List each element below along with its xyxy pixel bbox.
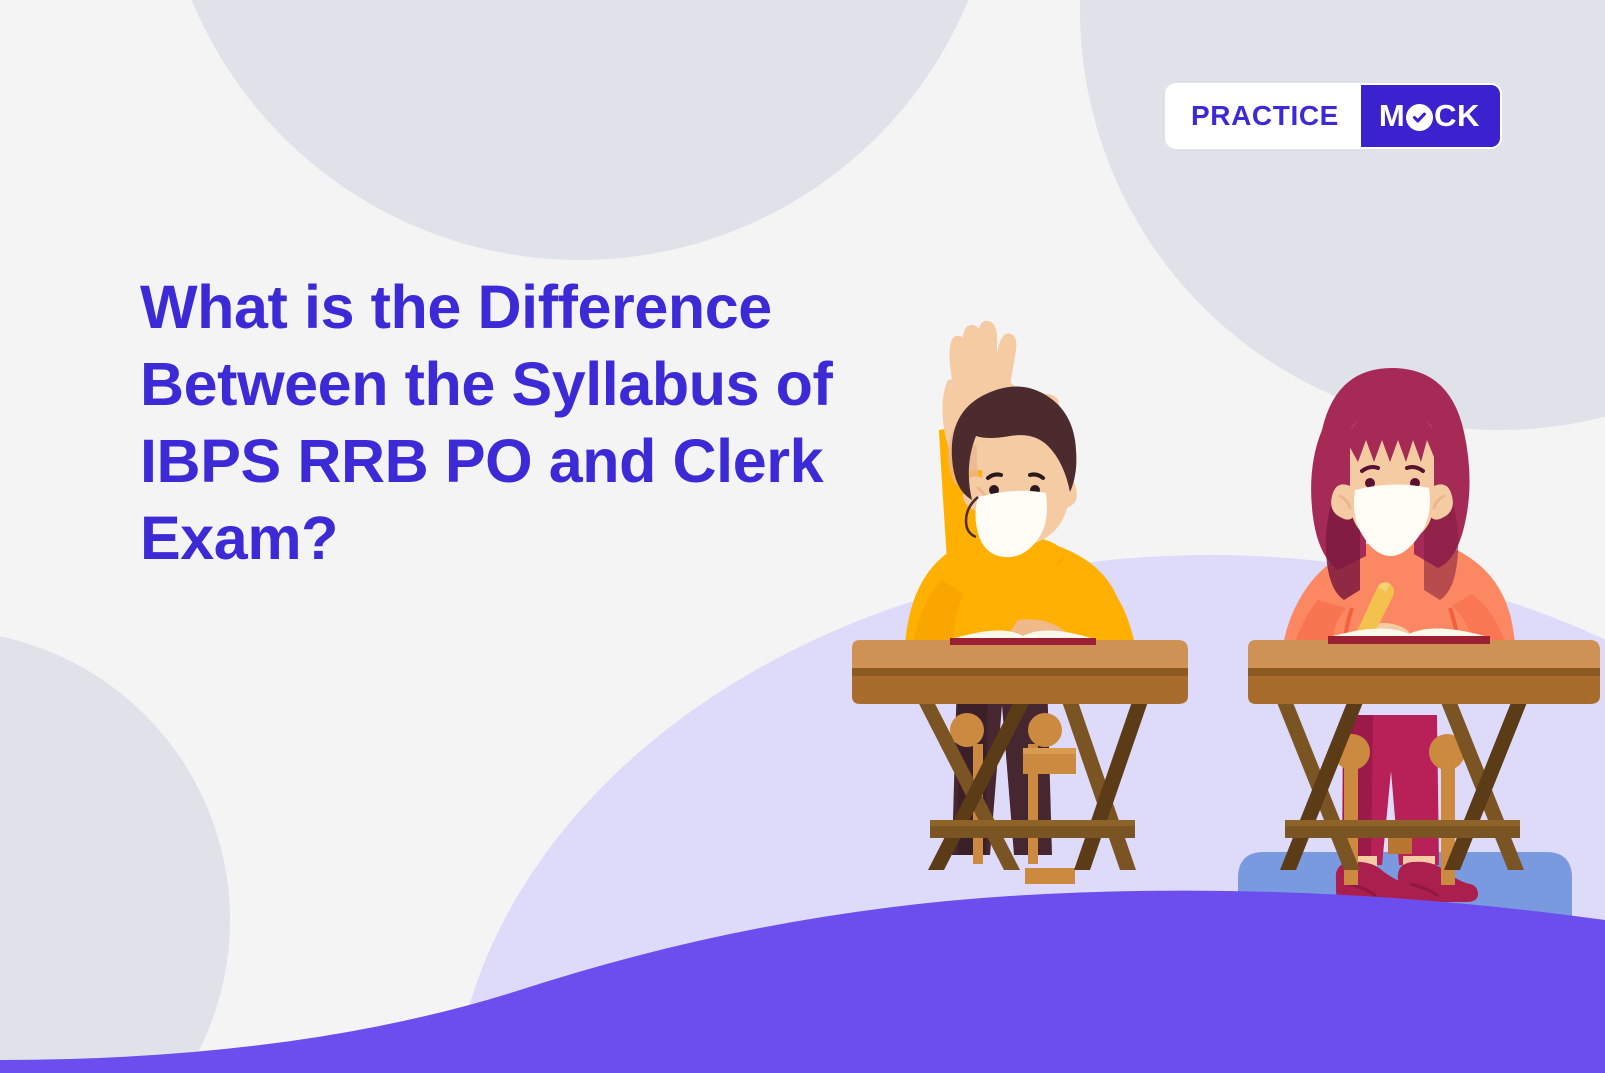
purple-wave-foreground (0, 891, 1605, 1073)
blog-banner: What is the Difference Between the Sylla… (0, 0, 1605, 1073)
practicemock-logo[interactable]: PRACTICE M CK (1167, 85, 1500, 147)
logo-practice-word: PRACTICE (1167, 85, 1361, 147)
page-title: What is the Difference Between the Sylla… (140, 269, 920, 577)
logo-mock-word: M CK (1361, 85, 1500, 147)
logo-mock-ck: CK (1434, 98, 1480, 134)
logo-mock-m: M (1379, 98, 1405, 134)
check-circle-icon (1406, 104, 1433, 131)
